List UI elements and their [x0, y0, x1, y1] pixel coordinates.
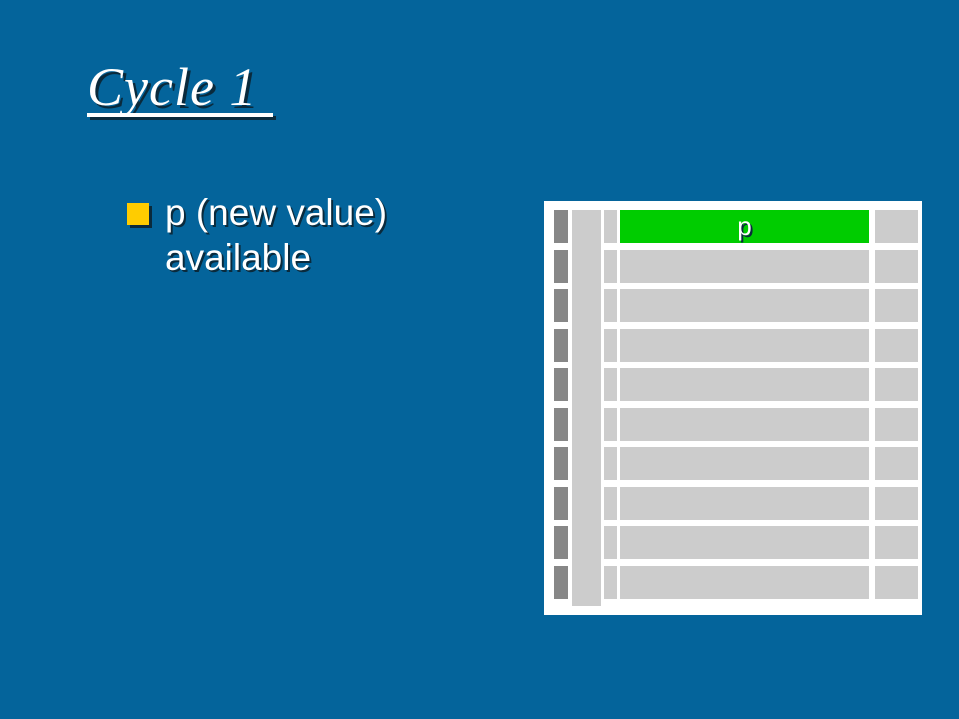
table-row — [544, 526, 922, 559]
row-main-cell[interactable] — [620, 250, 869, 283]
row-gap-cell — [604, 289, 617, 322]
row-main-cell[interactable] — [620, 408, 869, 441]
row-gap-cell — [604, 447, 617, 480]
row-tag-cell — [554, 566, 568, 599]
row-gap-cell — [604, 566, 617, 599]
row-tail-cell — [875, 447, 918, 480]
title-underline — [87, 113, 273, 117]
row-gap-cell — [604, 250, 617, 283]
bullet-line: p (new value) — [165, 190, 485, 235]
table-row — [544, 566, 922, 599]
table-row — [544, 447, 922, 480]
row-tail-cell — [875, 210, 918, 243]
row-main-cell[interactable] — [620, 526, 869, 559]
row-tag-cell — [554, 368, 568, 401]
table-row — [544, 250, 922, 283]
table-row — [544, 289, 922, 322]
row-main-cell[interactable] — [620, 447, 869, 480]
row-tag-cell — [554, 250, 568, 283]
row-gap-cell — [604, 408, 617, 441]
row-main-cell[interactable] — [620, 368, 869, 401]
row-tail-cell — [875, 408, 918, 441]
table-row: p — [544, 210, 922, 243]
row-tail-cell — [875, 368, 918, 401]
row-gap-cell — [604, 210, 617, 243]
row-main-cell[interactable] — [620, 487, 869, 520]
row-tag-cell — [554, 329, 568, 362]
table-row — [544, 329, 922, 362]
row-tail-cell — [875, 329, 918, 362]
title-block: Cycle 1 — [87, 58, 687, 128]
pipeline-table: p — [544, 201, 922, 615]
row-tail-cell — [875, 250, 918, 283]
row-gap-cell — [604, 526, 617, 559]
row-main-cell[interactable] — [620, 566, 869, 599]
row-tag-cell — [554, 526, 568, 559]
row-main-cell[interactable] — [620, 329, 869, 362]
row-tag-cell — [554, 447, 568, 480]
row-gap-cell — [604, 487, 617, 520]
row-gap-cell — [604, 368, 617, 401]
row-tag-cell — [554, 408, 568, 441]
bullet-line: available — [165, 235, 485, 280]
row-gap-cell — [604, 329, 617, 362]
row-main-cell[interactable]: p — [620, 210, 869, 243]
row-main-label: p — [620, 210, 869, 243]
row-main-cell[interactable] — [620, 289, 869, 322]
bullet-text: p (new value) available — [165, 190, 485, 280]
row-tag-cell — [554, 210, 568, 243]
page-title: Cycle 1 — [87, 58, 257, 116]
slide-canvas: Cycle 1 p (new value) available p — [0, 0, 959, 719]
row-tail-cell — [875, 289, 918, 322]
table-row — [544, 368, 922, 401]
table-row — [544, 408, 922, 441]
row-tag-cell — [554, 289, 568, 322]
row-tail-cell — [875, 526, 918, 559]
table-row — [544, 487, 922, 520]
square-bullet-icon — [127, 203, 149, 225]
row-tail-cell — [875, 566, 918, 599]
row-tag-cell — [554, 487, 568, 520]
row-tail-cell — [875, 487, 918, 520]
